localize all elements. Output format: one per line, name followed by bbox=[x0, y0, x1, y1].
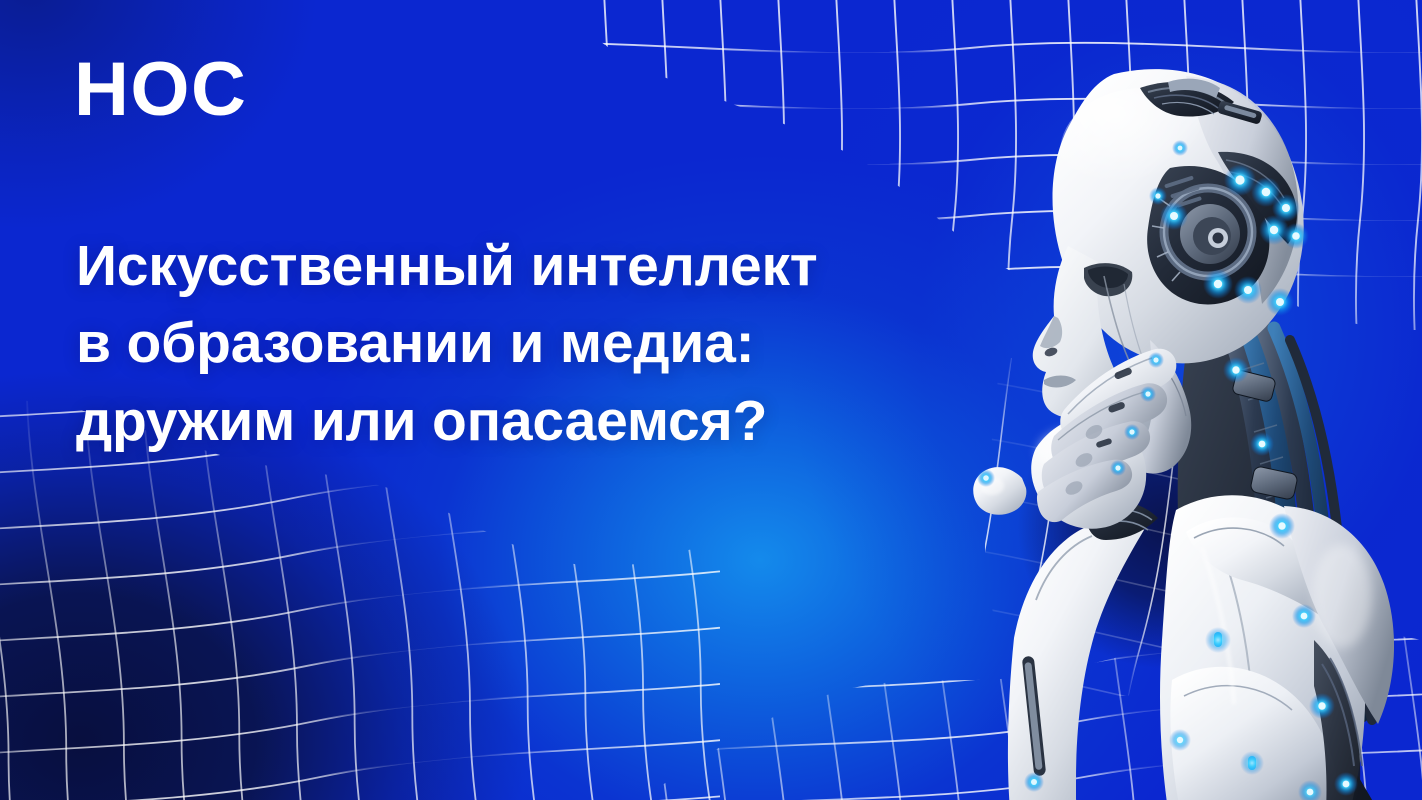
background-dark-behind-hand bbox=[1000, 360, 1330, 690]
page-title: Искусственный интеллект в образовании и … bbox=[76, 228, 976, 460]
brand-logo: НОС bbox=[74, 54, 247, 126]
page-title-line-1: Искусственный интеллект bbox=[76, 228, 976, 305]
slide-canvas: НОС Искусственный интеллект в образовани… bbox=[0, 0, 1422, 800]
page-title-line-2: в образовании и медиа: bbox=[76, 305, 976, 382]
page-title-line-3: дружим или опасаемся? bbox=[76, 383, 976, 460]
